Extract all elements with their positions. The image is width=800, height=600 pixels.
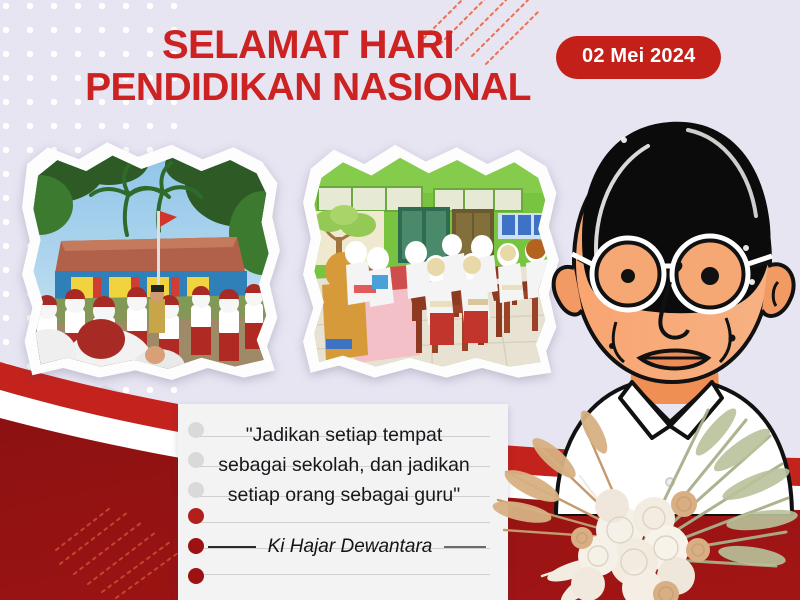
poster-canvas: SELAMAT HARI PENDIDIKAN NASIONAL 02 Mei … [0, 0, 800, 600]
quote-card: "Jadikan setiap tempat sebagai sekolah, … [178, 404, 508, 600]
quote-text: "Jadikan setiap tempat sebagai sekolah, … [194, 420, 494, 510]
photo-image [31, 149, 271, 371]
page-title: SELAMAT HARI PENDIDIKAN NASIONAL [58, 24, 558, 109]
title-line-1: SELAMAT HARI [58, 24, 558, 67]
title-line-2: PENDIDIKAN NASIONAL [58, 67, 558, 109]
flag-ceremony-photo[interactable] [22, 140, 280, 380]
quote-line-1: "Jadikan setiap tempat [194, 420, 494, 450]
dried-flower-bouquet [470, 380, 800, 600]
quote-author: Ki Hajar Dewantara [268, 536, 433, 558]
date-badge[interactable]: 02 Mei 2024 [556, 36, 721, 79]
photo-image [312, 149, 550, 371]
quote-line-2: sebagai sekolah, dan jadikan [194, 450, 494, 480]
attribution-dash-left [208, 546, 256, 548]
quote-line-3: setiap orang sebagai guru" [194, 480, 494, 510]
quote-attribution: Ki Hajar Dewantara [202, 536, 492, 558]
